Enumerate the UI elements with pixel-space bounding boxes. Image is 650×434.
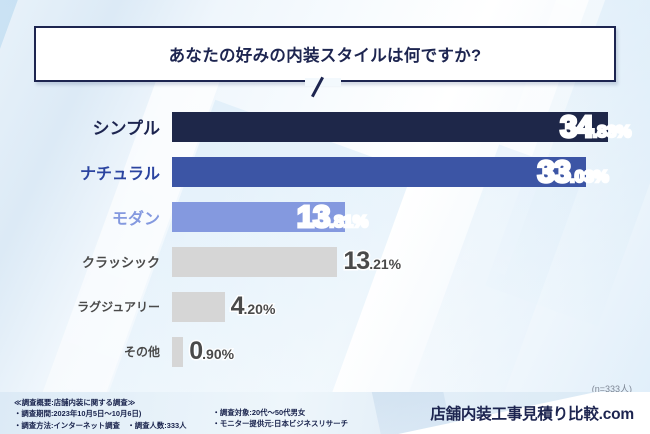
survey-metadata-line: ・調査期間:2023年10月5日〜10月6日) (14, 408, 186, 419)
bar-track (172, 104, 608, 149)
bar-value-label: 0.90% (189, 339, 234, 364)
bar-fill (172, 247, 337, 277)
footer-bar: ≪調査概要:店舗内装に関する調査≫・調査期間:2023年10月5日〜10月6日)… (0, 392, 650, 434)
bar-track (172, 329, 183, 374)
title-box: あなたの好みの内装スタイルは何ですか? (34, 26, 616, 82)
bar-value-integer: 34 (560, 111, 592, 142)
bar-value-label: 33.03% (538, 156, 609, 187)
bar-row: クラッシック13.21% (0, 239, 650, 284)
bar-fill (172, 157, 586, 187)
bar-value-integer: 13 (343, 249, 369, 274)
bar-track (172, 149, 586, 194)
bar-chart: シンプル34.83%ナチュラル33.03%モダン13.81%クラッシック13.2… (0, 104, 650, 374)
bar-value-integer: 33 (538, 156, 570, 187)
survey-metadata-line: ・モニター提供元:日本ビジネスリサーチ (212, 418, 348, 429)
bar-category-label: ラグジュアリー (0, 298, 160, 315)
bar-value-decimal: .83% (593, 123, 632, 140)
bar-value-decimal: .03% (570, 168, 609, 185)
bar-fill (172, 112, 608, 142)
bar-value-label: 34.83% (560, 111, 631, 142)
bar-value-label: 13.21% (343, 249, 401, 274)
bar-category-label: モダン (0, 205, 160, 229)
survey-metadata-line: ≪調査概要:店舗内装に関する調査≫ (14, 397, 186, 408)
survey-metadata-column: ≪調査概要:店舗内装に関する調査≫・調査期間:2023年10月5日〜10月6日)… (14, 397, 186, 431)
bar-row: ナチュラル33.03% (0, 149, 650, 194)
bar-value-label: 13.81% (297, 201, 368, 232)
bar-value-decimal: .21% (369, 257, 401, 271)
bar-value-decimal: .20% (243, 302, 275, 316)
page-title: あなたの好みの内装スタイルは何ですか? (169, 42, 482, 66)
bar-value-decimal: .81% (329, 213, 368, 230)
bar-category-label: その他 (0, 343, 160, 360)
survey-metadata-column: ・調査対象:20代〜50代男女・モニター提供元:日本ビジネスリサーチ (212, 397, 348, 431)
bar-row: その他0.90% (0, 329, 650, 374)
brand-logo: 店舗内装工事見積り比較.com (430, 402, 634, 424)
bar-row: ラグジュアリー4.20% (0, 284, 650, 329)
survey-metadata: ≪調査概要:店舗内装に関する調査≫・調査期間:2023年10月5日〜10月6日)… (14, 397, 348, 431)
bar-value-integer: 13 (297, 201, 329, 232)
bar-track (172, 239, 337, 284)
bar-row: モダン13.81% (0, 194, 650, 239)
bar-value-label: 4.20% (231, 294, 276, 319)
bar-track (172, 284, 225, 329)
bar-fill (172, 292, 225, 322)
bar-category-label: シンプル (0, 114, 160, 139)
bar-value-integer: 4 (231, 294, 244, 319)
survey-metadata-line: ・調査対象:20代〜50代男女 (212, 407, 348, 418)
infographic-canvas: あなたの好みの内装スタイルは何ですか? シンプル34.83%ナチュラル33.03… (0, 0, 650, 434)
bar-fill (172, 337, 183, 367)
survey-metadata-line: ・調査方法:インターネット調査 ・調査人数:333人 (14, 420, 186, 431)
bar-category-label: クラッシック (0, 252, 160, 271)
bar-category-label: ナチュラル (0, 160, 160, 184)
bar-value-integer: 0 (189, 339, 202, 364)
bar-value-decimal: .90% (202, 347, 234, 361)
bar-row: シンプル34.83% (0, 104, 650, 149)
